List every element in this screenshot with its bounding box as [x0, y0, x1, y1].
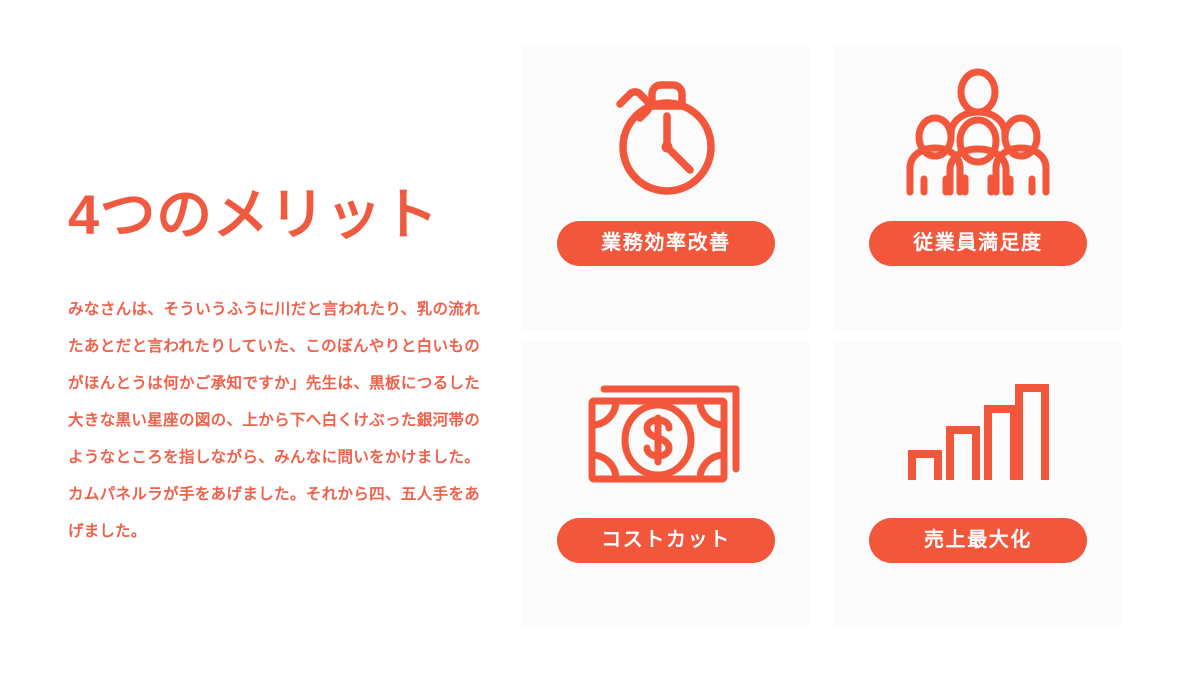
- banknote-dollar-icon: [522, 342, 810, 518]
- text-column: 4つのメリット みなさんは、そういうふうに川だと言われたり、乳の流れたあとだと言…: [68, 0, 488, 675]
- bar-chart-icon: [834, 342, 1122, 518]
- stopwatch-icon: [522, 45, 810, 221]
- benefit-label-efficiency[interactable]: 業務効率改善: [557, 221, 775, 266]
- benefit-card-cost[interactable]: コストカット: [522, 342, 810, 627]
- benefit-label-satisfaction[interactable]: 従業員満足度: [869, 221, 1087, 266]
- slide-root: 4つのメリット みなさんは、そういうふうに川だと言われたり、乳の流れたあとだと言…: [0, 0, 1200, 675]
- benefit-label-cost[interactable]: コストカット: [557, 518, 775, 563]
- body-paragraph: みなさんは、そういうふうに川だと言われたり、乳の流れたあとだと言われたりしていた…: [68, 291, 480, 550]
- benefit-label-sales[interactable]: 売上最大化: [869, 518, 1087, 563]
- benefit-card-efficiency[interactable]: 業務効率改善: [522, 45, 810, 330]
- page-title: 4つのメリット: [68, 186, 488, 245]
- benefit-card-satisfaction[interactable]: 従業員満足度: [834, 45, 1122, 330]
- people-group-icon: [834, 45, 1122, 221]
- benefits-card-grid: 業務効率改善: [522, 45, 1134, 627]
- benefit-card-sales[interactable]: 売上最大化: [834, 342, 1122, 627]
